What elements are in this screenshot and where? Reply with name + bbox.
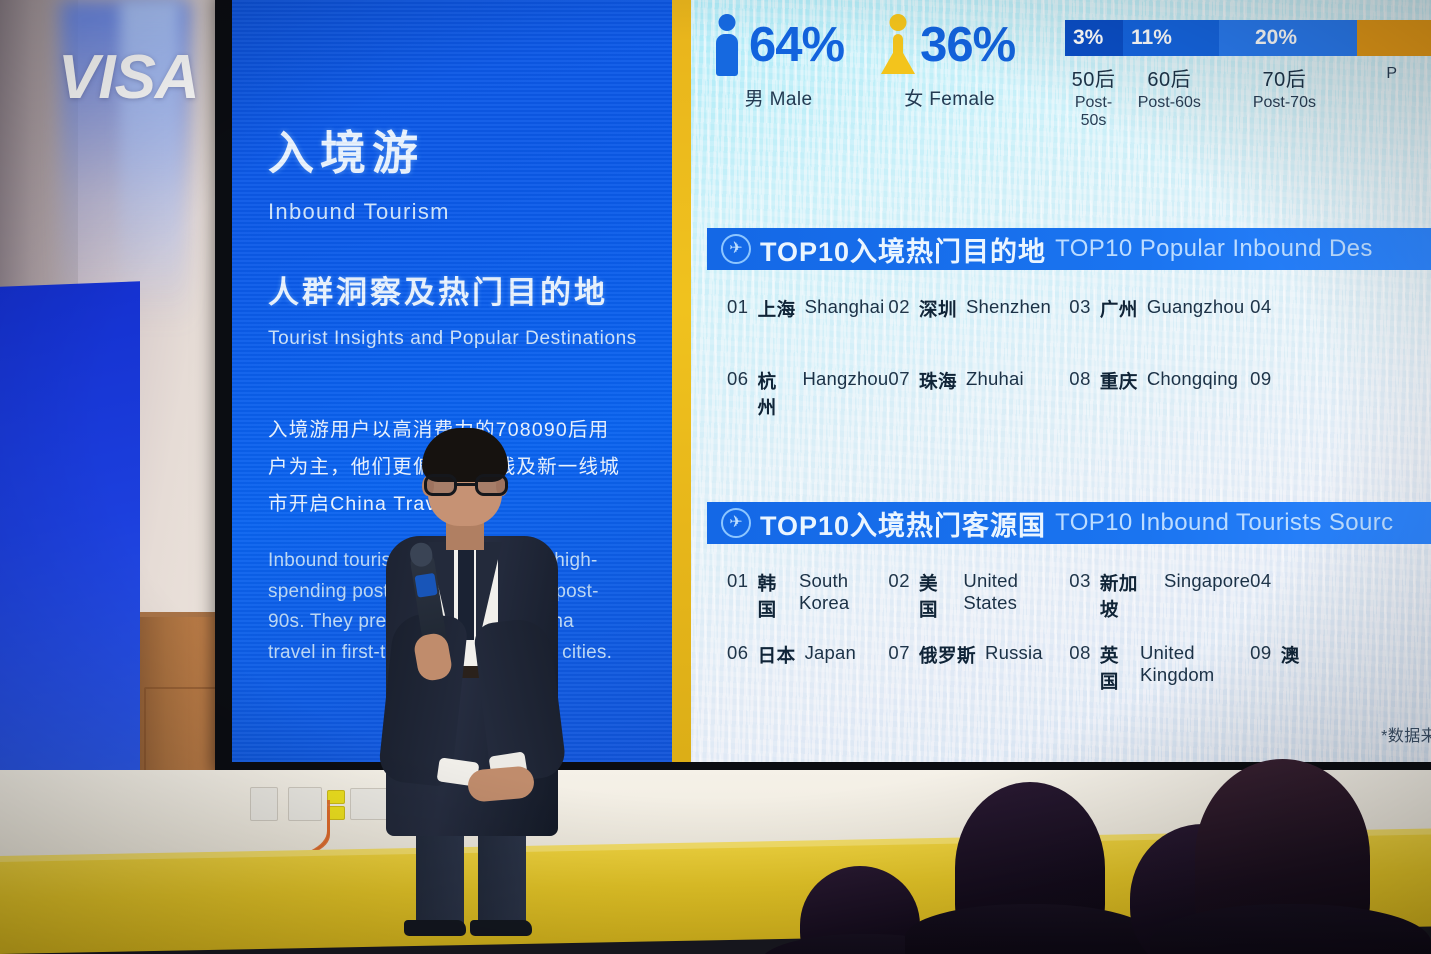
- destinations-row-1: 01 上海 Shanghai 02 深圳 Shenzhen 03 广州 Guan…: [707, 296, 1431, 368]
- age-seg-1: 11%: [1123, 20, 1219, 56]
- female-percent: 36%: [920, 17, 1015, 73]
- demographics-row: 64% 男 Male 36% 女 Female: [691, 0, 1431, 150]
- male-person-icon: [713, 14, 741, 76]
- destination-item: 06 杭州 Hangzhou: [707, 368, 888, 440]
- age-label-0: 50后 Post-50s: [1065, 63, 1122, 130]
- slide-yellow-divider: [672, 0, 691, 762]
- age-cohort-labels: 50后 Post-50s 60后 Post-60s 70后 Post-70s: [1065, 63, 1431, 130]
- source-country-item-cropped: 09 澳: [1250, 642, 1431, 714]
- source-country-item: 08 英国 United Kingdom: [1069, 642, 1250, 714]
- destination-item: 07 珠海 Zhuhai: [888, 368, 1069, 440]
- source-country-item: 03 新加坡 Singapore: [1069, 570, 1250, 642]
- airplane-icon: ✈: [721, 508, 751, 538]
- top10-source-countries-section: ✈ TOP10入境热门客源国 TOP10 Inbound Tourists So…: [707, 502, 1431, 714]
- audience-shoulders: [905, 904, 1155, 954]
- slide-footnote: *数据来: [1381, 722, 1431, 746]
- female-person-icon: [884, 14, 912, 76]
- male-label: 男 Male: [745, 84, 813, 111]
- slide-en-title: Inbound Tourism: [268, 199, 668, 225]
- age-cohort-chart: 3% 11% 20% 50后 Post-50s: [1065, 20, 1431, 130]
- slide-right-panel: 64% 男 Male 36% 女 Female: [691, 0, 1431, 762]
- age-seg-2: 20%: [1219, 20, 1357, 56]
- destinations-grid: 01 上海 Shanghai 02 深圳 Shenzhen 03 广州 Guan…: [707, 296, 1431, 440]
- source-country-item-cropped: 04: [1250, 570, 1431, 642]
- top10-destinations-section: ✈ TOP10入境热门目的地 TOP10 Popular Inbound Des…: [707, 228, 1431, 440]
- source-countries-cn-heading: TOP10入境热门客源国: [760, 504, 1046, 543]
- destination-item-cropped: 09: [1250, 368, 1431, 440]
- age-seg-3: [1357, 20, 1431, 56]
- destinations-en-heading: TOP10 Popular Inbound Des: [1055, 235, 1373, 263]
- gender-split: 64% 男 Male 36% 女 Female: [713, 14, 1015, 111]
- source-countries-row-2: 06 日本 Japan 07 俄罗斯 Russia 08 英国 United K…: [707, 642, 1431, 714]
- destination-item: 08 重庆 Chongqing: [1069, 368, 1250, 440]
- source-country-item: 02 美国 United States: [888, 570, 1069, 642]
- age-label-2: 70后 Post-70s: [1217, 63, 1353, 130]
- source-countries-header: ✈ TOP10入境热门客源国 TOP10 Inbound Tourists So…: [707, 502, 1431, 544]
- source-countries-row-1: 01 韩国 South Korea 02 美国 United States 03…: [707, 570, 1431, 642]
- destinations-header: ✈ TOP10入境热门目的地 TOP10 Popular Inbound Des: [707, 228, 1431, 270]
- source-country-item: 06 日本 Japan: [707, 642, 888, 714]
- slide-cn-subtitle: 人群洞察及热门目的地: [268, 267, 668, 312]
- destination-item: 02 深圳 Shenzhen: [888, 296, 1069, 368]
- gender-male: 64% 男 Male: [713, 14, 844, 111]
- destinations-cn-heading: TOP10入境热门目的地: [760, 230, 1046, 269]
- destinations-row-2: 06 杭州 Hangzhou 07 珠海 Zhuhai 08 重庆 Chongq…: [707, 368, 1431, 440]
- source-country-item: 01 韩国 South Korea: [707, 570, 888, 642]
- male-percent: 64%: [749, 17, 844, 73]
- eyeglasses-icon: [424, 474, 508, 496]
- airplane-icon: ✈: [721, 234, 751, 264]
- gender-female: 36% 女 Female: [884, 14, 1015, 111]
- destination-item: 01 上海 Shanghai: [707, 296, 888, 368]
- slide-cn-title: 入境游: [268, 128, 668, 179]
- age-seg-0: 3%: [1065, 20, 1123, 56]
- visa-logo: VISA: [58, 42, 199, 113]
- audience-silhouettes: [0, 754, 1431, 954]
- source-country-item: 07 俄罗斯 Russia: [888, 642, 1069, 714]
- conference-stage-photo: VISA 入境游 Inbound Tourism 人群洞察及热门目的地 Tour…: [0, 0, 1431, 954]
- source-countries-en-heading: TOP10 Inbound Tourists Sourc: [1055, 509, 1394, 537]
- source-countries-grid: 01 韩国 South Korea 02 美国 United States 03…: [707, 570, 1431, 714]
- age-label-3: P: [1352, 63, 1431, 130]
- age-label-1: 60后 Post-60s: [1122, 63, 1216, 130]
- female-label: 女 Female: [904, 84, 995, 111]
- destination-item: 03 广州 Guangzhou: [1069, 296, 1250, 368]
- slide-en-subtitle: Tourist Insights and Popular Destination…: [268, 328, 668, 350]
- age-cohort-bar: 3% 11% 20%: [1065, 20, 1431, 56]
- destination-item-cropped: 04: [1250, 296, 1431, 368]
